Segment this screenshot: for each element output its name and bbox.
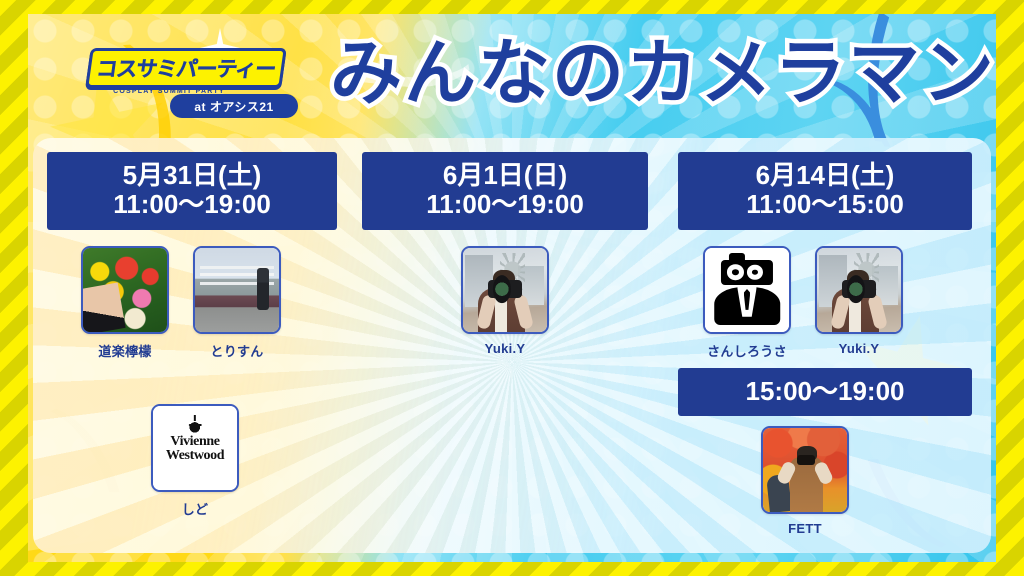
column-3-time: 11:00〜15:00 <box>678 190 972 219</box>
avatar[interactable] <box>703 246 791 334</box>
list-item[interactable]: Yuki.Y <box>459 246 551 356</box>
camera-head-silhouette-icon <box>705 248 789 332</box>
photographer-name: Yuki.Y <box>813 341 905 356</box>
list-item[interactable]: 道楽檸檬 <box>79 246 171 360</box>
avatar[interactable] <box>761 426 849 514</box>
avatar[interactable]: VivienneWestwood <box>151 404 239 492</box>
avatar[interactable] <box>193 246 281 334</box>
schedule-panel: 5月31日(土) 11:00〜19:00 道楽檸檬 とりすん <box>33 138 991 553</box>
column-1-date: 5月31日(土) <box>47 161 337 190</box>
column-1-row-2: VivienneWestwood しど <box>149 404 241 518</box>
column-2-date: 6月1日(日) <box>362 161 648 190</box>
column-2-row-1: Yuki.Y <box>459 246 551 356</box>
column-3-row-2: FETT <box>759 426 851 536</box>
poster-stage: コスサミパーティー COSPLAY SUMMIT PARTY at オアシス21… <box>0 0 1024 576</box>
event-logo: コスサミパーティー COSPLAY SUMMIT PARTY at オアシス21 <box>88 36 298 122</box>
photographer-photo-icon <box>817 248 901 332</box>
photographer-name: さんしろうさ <box>701 341 793 360</box>
list-item[interactable]: とりすん <box>191 246 283 360</box>
riverside-photo-icon <box>195 248 279 332</box>
vivienne-westwood-wordmark: VivienneWestwood <box>153 435 237 464</box>
photographer-name: FETT <box>759 521 851 536</box>
list-item[interactable]: Yuki.Y <box>813 246 905 360</box>
schedule-columns: 5月31日(土) 11:00〜19:00 道楽檸檬 とりすん <box>33 138 991 553</box>
photographer-name: しど <box>149 499 241 518</box>
schedule-column-3: 6月14日(土) 11:00〜15:00 <box>659 138 991 553</box>
column-1-row-1: 道楽檸檬 とりすん <box>79 246 283 360</box>
column-3-second-time-banner: 15:00〜19:00 <box>678 368 972 416</box>
logo-venue-text: at オアシス21 <box>170 94 298 118</box>
flower-photo-icon <box>83 248 167 332</box>
column-3-date: 6月14日(土) <box>678 161 972 190</box>
column-2-header: 6月1日(日) 11:00〜19:00 <box>362 152 648 230</box>
column-3-header: 6月14日(土) 11:00〜15:00 <box>678 152 972 230</box>
avatar[interactable] <box>815 246 903 334</box>
photographer-name: 道楽檸檬 <box>79 341 171 360</box>
photographer-name: Yuki.Y <box>459 341 551 356</box>
photographer-name: とりすん <box>191 341 283 360</box>
avatar[interactable] <box>461 246 549 334</box>
photographer-photo-icon <box>463 248 547 332</box>
schedule-column-2: 6月1日(日) 11:00〜19:00 Yuki <box>351 138 659 553</box>
list-item[interactable]: VivienneWestwood しど <box>149 404 241 518</box>
column-3-row-1: さんしろうさ Yuki.Y <box>701 246 905 360</box>
column-1-time: 11:00〜19:00 <box>47 190 337 219</box>
vivienne-westwood-logo-icon: VivienneWestwood <box>153 406 237 490</box>
avatar[interactable] <box>81 246 169 334</box>
schedule-column-1: 5月31日(土) 11:00〜19:00 道楽檸檬 とりすん <box>33 138 351 553</box>
list-item[interactable]: FETT <box>759 426 851 536</box>
logo-main-text: コスサミパーティー <box>85 48 287 88</box>
page-title: みんなのカメラマン <box>330 38 996 110</box>
list-item[interactable]: さんしろうさ <box>701 246 793 360</box>
column-1-header: 5月31日(土) 11:00〜19:00 <box>47 152 337 230</box>
autumn-photo-icon <box>763 428 847 512</box>
orb-icon <box>186 419 204 432</box>
column-2-time: 11:00〜19:00 <box>362 190 648 219</box>
